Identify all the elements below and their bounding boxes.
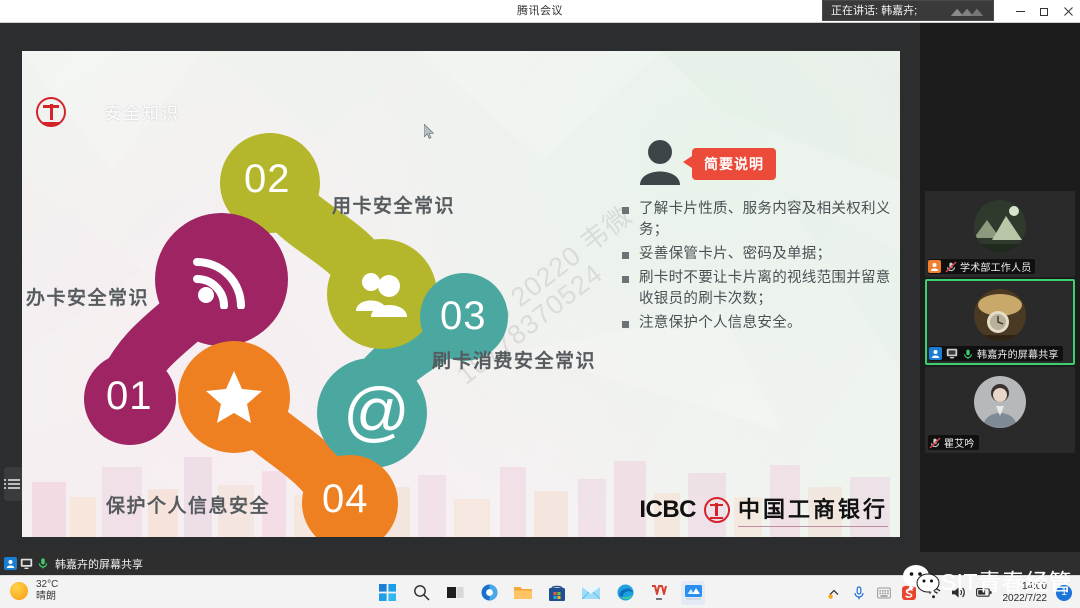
node-02-number: 02 [244,157,291,202]
close-button[interactable] [1056,0,1080,23]
tencent-meeting-icon[interactable] [681,581,705,605]
window-controls [1008,0,1080,23]
edge-browser-icon[interactable] [613,581,637,605]
bullet-text: 注意保护个人信息安全。 [639,313,802,334]
task-view-icon[interactable] [443,581,467,605]
icbc-english-name: ICBC [639,496,696,524]
taskbar-app-list [375,576,705,608]
callout-badge: 简要说明 [692,148,776,180]
sun-icon [10,582,28,600]
bullet-text: 刷卡时不要让卡片离的视线范围并留意收银员的刷卡次数； [639,268,892,310]
bullet-list: 了解卡片性质、服务内容及相关权利义务； 妥善保管卡片、密码及单据； 刷卡时不要让… [622,199,892,337]
bullet-text: 妥善保管卡片、密码及单据； [639,244,831,265]
bullet-item: 注意保护个人信息安全。 [622,313,892,334]
mail-icon[interactable] [579,581,603,605]
node-03-number: 03 [440,294,487,339]
participant-name: 韩嘉卉的屏幕共享 [977,346,1059,361]
participant-name: 瞿艾吟 [944,435,975,450]
screen-root: 腾讯会议 正在讲话: 韩嘉卉; [0,0,1080,608]
avatar [974,376,1026,428]
users-icon [355,269,409,319]
participant-tile-3[interactable]: 瞿艾吟 [925,367,1075,453]
mouse-cursor [424,124,434,139]
participant-name: 学术部工作人员 [960,259,1031,274]
weather-widget[interactable]: 32°C 晴朗 [10,579,58,603]
node-01-number: 01 [106,374,153,419]
microphone-icon[interactable] [851,585,867,601]
maximize-button[interactable] [1032,0,1056,23]
screen-share-icon [945,347,958,360]
participant-tile-1[interactable]: 学术部工作人员 [925,191,1075,277]
window-titlebar: 腾讯会议 正在讲话: 韩嘉卉; [0,0,1080,23]
bullet-item: 了解卡片性质、服务内容及相关权利义务； [622,199,892,241]
bullet-text: 了解卡片性质、服务内容及相关权利义务； [639,199,892,241]
host-badge-icon [929,347,942,360]
screen-share-icon [20,557,33,570]
meeting-stage: 安全知识 21110 20220 韦微 18778370524 [0,23,1080,552]
slide-footer-brand: ICBC 中国工商银行 [639,492,888,527]
node-02-icon-circle [327,239,437,349]
participant-name-chip: 瞿艾吟 [928,435,979,450]
participant-tile-2[interactable]: 韩嘉卉的屏幕共享 [925,279,1075,365]
bullet-item: 妥善保管卡片、密码及单据； [622,244,892,265]
participant-name-chip: 韩嘉卉的屏幕共享 [929,346,1063,361]
host-badge-icon [4,557,17,570]
avatar [974,200,1026,252]
weather-description: 晴朗 [36,591,58,603]
at-sign-icon: @ [343,378,410,444]
wifi-signal-icon [193,247,255,309]
weather-temperature: 32°C [36,579,58,591]
show-hidden-icons[interactable] [826,585,842,601]
icbc-logo-badge [704,497,730,523]
channel-watermark: SIT青春经管 [901,563,1072,597]
node-03-icon-circle: @ [317,358,427,468]
wechat-icon [901,564,941,596]
host-badge-icon [928,260,941,273]
ime-icon[interactable] [876,585,892,601]
node-04-number: 04 [322,477,369,522]
node-01-icon-circle [155,213,288,346]
share-owner-name: 韩嘉卉的屏幕共享 [55,556,143,572]
speaking-status-text: 正在讲话: 韩嘉卉; [831,5,917,17]
bullet-item: 刷卡时不要让卡片离的视线范围并留意收银员的刷卡次数； [622,268,892,310]
minimize-button[interactable] [1008,0,1032,23]
speaking-status-banner: 正在讲话: 韩嘉卉; [822,0,994,21]
bullet-square-icon [622,276,629,283]
microphone-muted-icon [928,436,941,449]
list-icon [8,477,20,491]
node-02-label: 用卡安全常识 [332,191,455,218]
node-04-label: 保护个人信息安全 [106,491,270,518]
node-03-label: 刷卡消费安全常识 [432,346,596,373]
bullet-square-icon [622,252,629,259]
node-01-label: 办卡安全常识 [26,283,149,310]
person-silhouette-icon [638,139,682,185]
audio-wave-icon [949,5,985,18]
widgets-icon[interactable] [477,581,501,605]
microphone-active-icon [36,557,49,570]
search-icon[interactable] [409,581,433,605]
icbc-chinese-name: 中国工商银行 [738,492,888,527]
bullet-square-icon [622,321,629,328]
participant-strip: 学术部工作人员 [920,46,1080,575]
start-button[interactable] [375,581,399,605]
file-explorer-icon[interactable] [511,581,535,605]
participant-name-chip: 学术部工作人员 [928,259,1035,274]
microphone-active-icon [961,347,974,360]
callout-text: 简要说明 [704,154,764,174]
share-owner-chip: 韩嘉卉的屏幕共享 [2,556,149,572]
channel-watermark-text: SIT青春经管 [941,563,1072,597]
participant-list-toggle[interactable] [4,467,24,501]
shared-screen-slide: 安全知识 21110 20220 韦微 18778370524 [22,51,900,537]
node-04-icon-circle [178,341,290,453]
microphone-muted-icon [944,260,957,273]
star-icon [205,369,263,425]
avatar [974,289,1026,341]
microsoft-store-icon[interactable] [545,581,569,605]
bullet-square-icon [622,207,629,214]
wps-office-icon[interactable] [647,581,671,605]
